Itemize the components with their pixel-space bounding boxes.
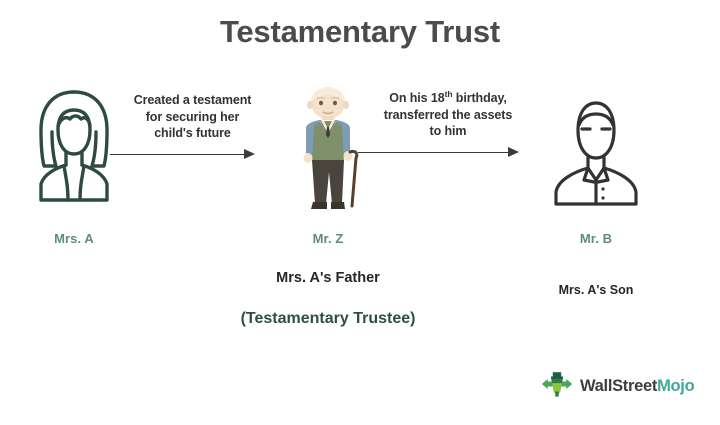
diagram-canvas: Testamentary Trust — [0, 0, 720, 425]
arrow-2-line-1-post: birthday, — [452, 91, 506, 105]
arrow-1-label: Created a testament for securing her chi… — [110, 92, 275, 142]
wallstreetmojo-logo[interactable]: WallStreetMojo — [540, 368, 694, 405]
caption-testamentary-trustee: (Testamentary Trustee) — [198, 310, 458, 328]
arrow-2-label: On his 18th birthday, transferred the as… — [358, 90, 538, 140]
arrow-shaft — [358, 152, 510, 154]
label-mr-z: Mr. Z — [248, 231, 408, 246]
arrow-1-line-3: child's future — [110, 125, 275, 142]
arrow-head — [508, 147, 519, 157]
arrow-2-line-3: to him — [358, 123, 538, 140]
arrow-2-line-1-pre: On his 18 — [389, 91, 444, 105]
right-arrow-icon — [358, 147, 538, 159]
arrow-2-line-1: On his 18th birthday, — [358, 90, 538, 107]
arrow-annotation-1: Created a testament for securing her chi… — [110, 92, 275, 161]
caption-mrs-a-son: Mrs. A's Son — [520, 283, 672, 297]
arrow-1-line-1: Created a testament — [110, 92, 275, 109]
logo-text: WallStreetMojo — [580, 377, 694, 396]
page-title: Testamentary Trust — [0, 14, 720, 50]
logo-text-mojo: Mojo — [657, 377, 694, 395]
wallstreetmojo-bull-icon — [540, 368, 574, 405]
caption-mrs-a-father: Mrs. A's Father — [228, 270, 428, 286]
label-mr-b: Mr. B — [536, 231, 656, 246]
label-mrs-a: Mrs. A — [14, 231, 134, 246]
arrow-shaft — [110, 154, 246, 156]
arrow-1-line-2: for securing her — [110, 109, 275, 126]
man-avatar-icon — [548, 96, 644, 208]
right-arrow-icon — [110, 149, 275, 161]
woman-avatar-icon — [28, 86, 120, 204]
arrow-head — [244, 149, 255, 159]
arrow-annotation-2: On his 18th birthday, transferred the as… — [358, 90, 538, 159]
elderly-man-illustration — [288, 86, 368, 212]
arrow-2-line-2: transferred the assets — [358, 107, 538, 124]
logo-text-wallstreet: WallStreet — [580, 377, 657, 395]
